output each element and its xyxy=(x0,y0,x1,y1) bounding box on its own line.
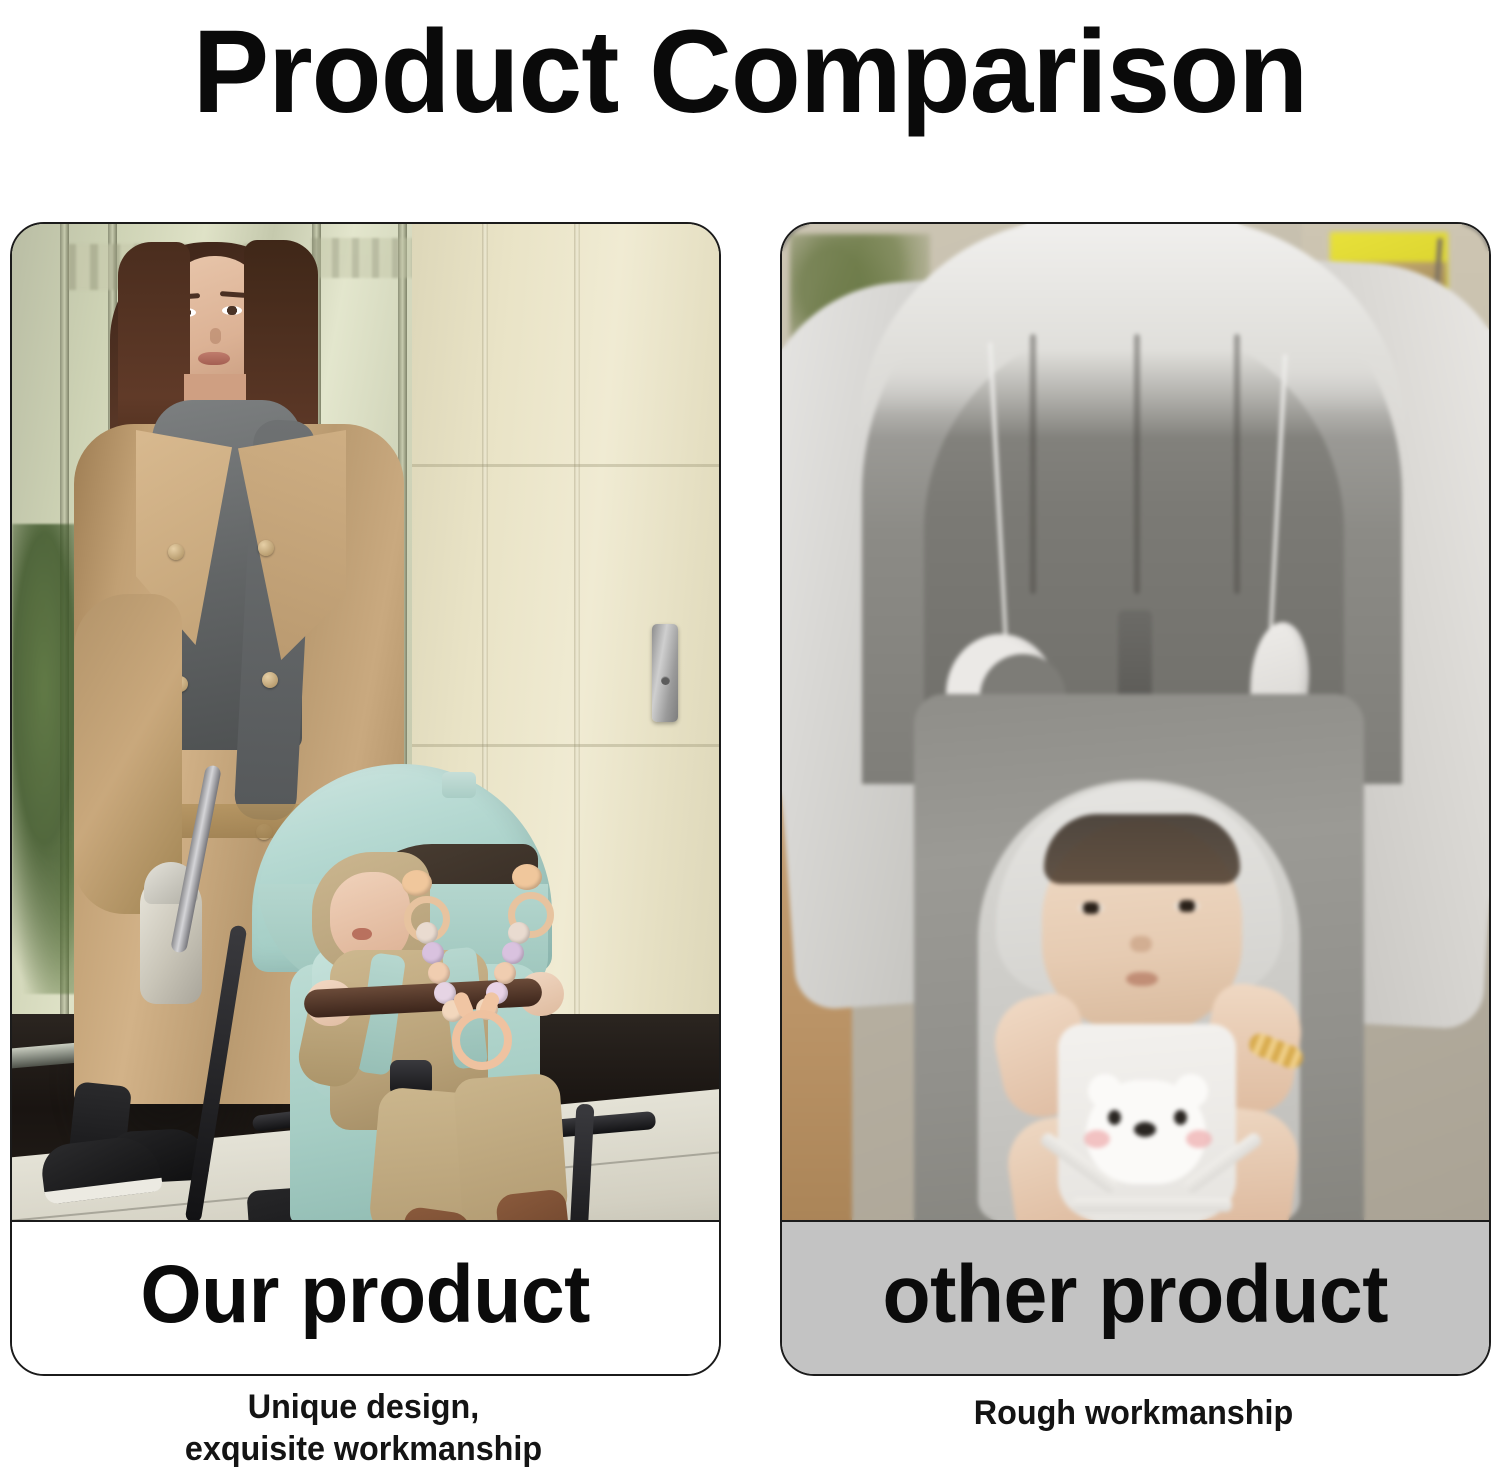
harness-strap xyxy=(1072,1198,1232,1212)
door-intercom-panel xyxy=(652,624,678,722)
canopy-seam xyxy=(1134,334,1140,594)
panel-our-product[interactable]: Luxury xyxy=(10,222,721,1376)
our-product-photo: Luxury xyxy=(12,224,719,1220)
baby-eye xyxy=(1078,902,1104,914)
baby-nose xyxy=(1130,936,1152,952)
baby-mouth xyxy=(1126,972,1158,986)
toy-bead xyxy=(402,870,432,896)
woman-nose xyxy=(210,328,221,344)
toy-bead xyxy=(416,922,438,944)
bear-cheek xyxy=(1084,1130,1110,1148)
our-product-caption: Unique design, exquisite workmanship xyxy=(28,1386,700,1470)
other-product-caption: Rough workmanship xyxy=(798,1392,1470,1434)
bear-nose xyxy=(1134,1122,1156,1137)
comparison-panels: Luxury xyxy=(0,222,1500,1382)
stone-seam xyxy=(412,464,719,467)
our-product-label-band: Our product xyxy=(12,1220,719,1374)
bunny-teether-ring xyxy=(452,1010,512,1070)
bear-cheek xyxy=(1186,1130,1212,1148)
bear-eye xyxy=(1108,1110,1121,1125)
page-title: Product Comparison xyxy=(23,8,1478,136)
baby-hair xyxy=(1044,814,1240,884)
caption-line-1: Unique design, xyxy=(28,1386,700,1428)
caption-line-2: exquisite workmanship xyxy=(28,1428,700,1470)
caption-line-1: Rough workmanship xyxy=(798,1392,1470,1434)
our-product-label: Our product xyxy=(141,1252,591,1338)
canopy-seam xyxy=(1234,334,1240,594)
other-product-label-band: other product xyxy=(782,1220,1489,1374)
toy-bead xyxy=(494,962,516,984)
woman-lips xyxy=(198,352,230,365)
toy-bead xyxy=(508,922,530,944)
coat-button xyxy=(262,672,278,688)
canopy-tab xyxy=(442,772,476,798)
stone-seam xyxy=(574,224,580,1084)
coat-button xyxy=(258,540,274,556)
other-product-photo xyxy=(782,224,1489,1220)
toy-bead xyxy=(502,942,524,964)
toy-bead xyxy=(422,942,444,964)
toy-bead xyxy=(428,962,450,984)
woman-eye xyxy=(222,306,242,315)
baby-eye xyxy=(1174,900,1200,912)
toy-bead xyxy=(512,864,542,890)
stone-seam xyxy=(412,744,719,747)
bear-eye xyxy=(1174,1110,1187,1125)
canopy-seam xyxy=(1030,334,1036,594)
panel-other-product[interactable]: other product xyxy=(780,222,1491,1376)
other-product-label: other product xyxy=(883,1252,1388,1338)
coat-button xyxy=(168,544,184,560)
baby-mouth xyxy=(352,928,372,940)
